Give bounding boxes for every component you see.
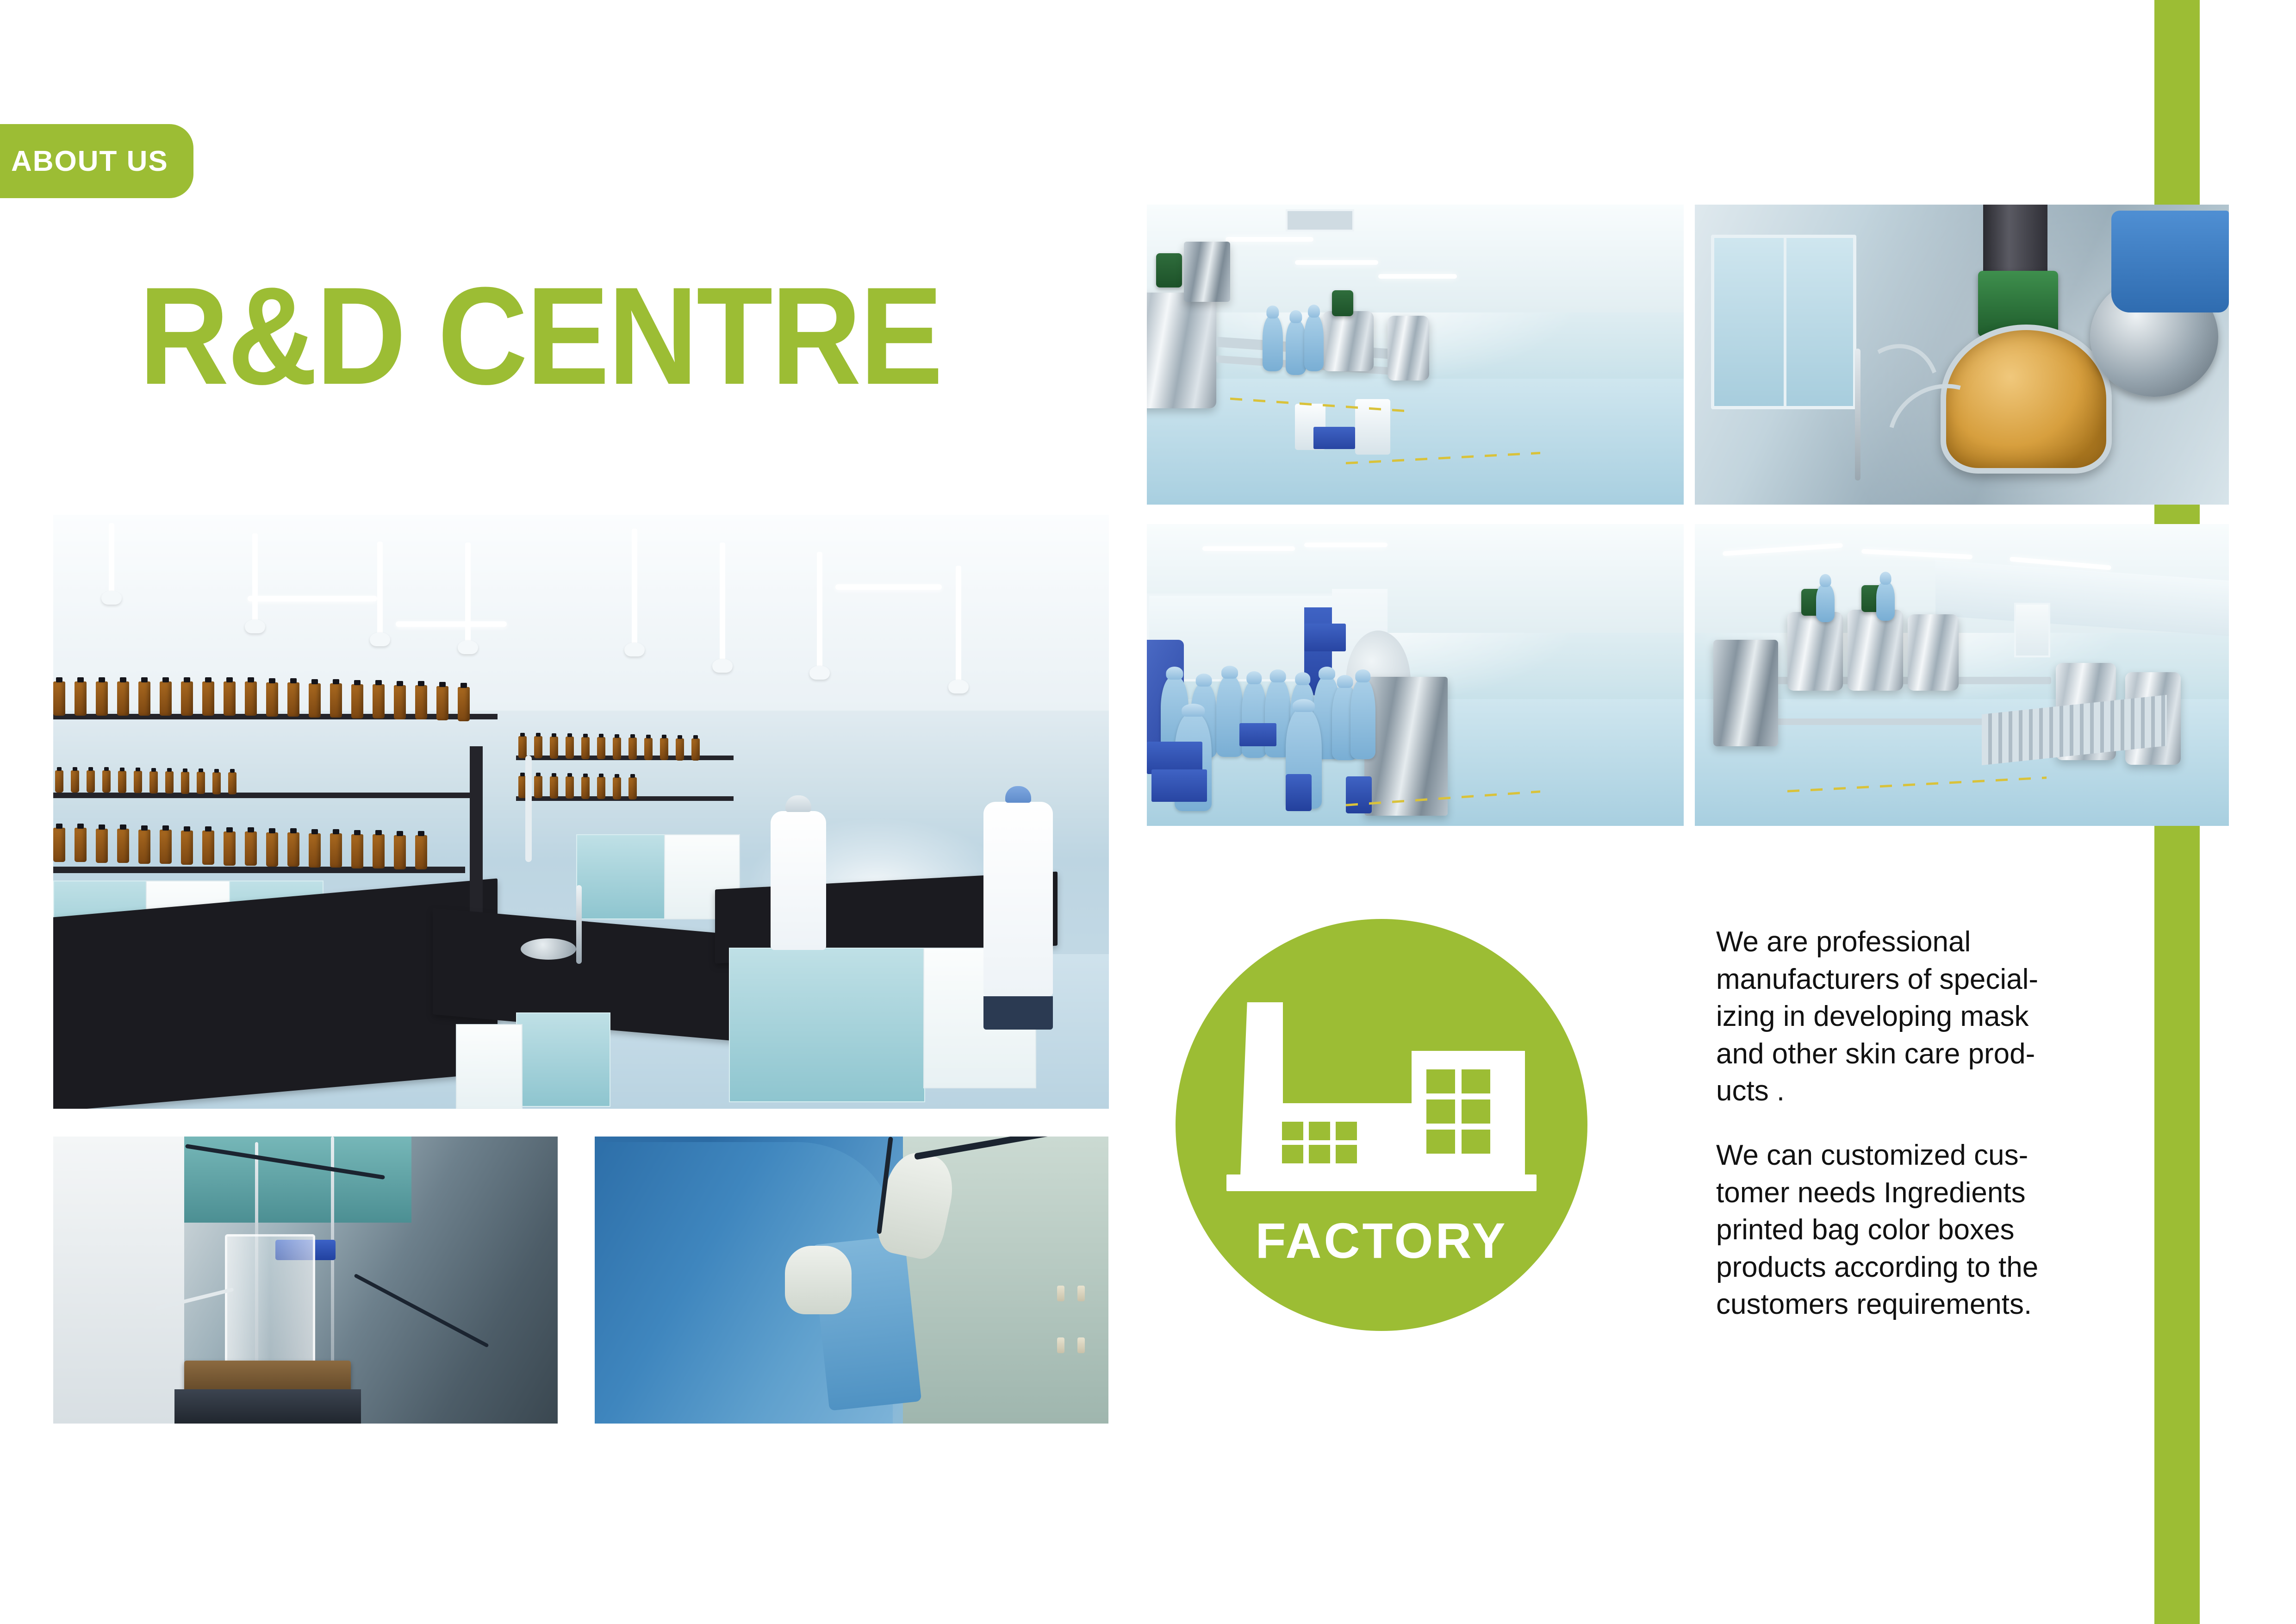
sample-vial <box>1077 1337 1085 1353</box>
reagent-bottle <box>628 737 637 760</box>
reagent-bottle <box>71 770 79 793</box>
factory-window <box>1462 1099 1490 1124</box>
emulsifying-tank <box>1787 612 1843 691</box>
work-stool <box>1286 774 1312 811</box>
cleanroom-scene <box>1147 205 1684 505</box>
wall-panel <box>2014 603 2050 657</box>
cleanroom-worker <box>1876 582 1895 621</box>
reagent-bottle <box>245 831 257 866</box>
factory-window <box>1426 1130 1455 1154</box>
tank-motor <box>1156 253 1182 287</box>
lab-shelf <box>516 796 734 801</box>
reagent-bottle <box>550 737 558 759</box>
reagent-bottle <box>330 683 342 718</box>
lab-sink <box>521 938 576 960</box>
lab-lamp <box>720 543 725 661</box>
mixing-tank <box>1147 293 1216 408</box>
reagent-bottle <box>597 777 605 799</box>
photo-beaker-hotplate <box>53 1137 558 1424</box>
cleanroom-worker <box>1304 315 1324 371</box>
ceiling-light <box>1226 237 1313 242</box>
about-us-tab-label: ABOUT US <box>11 145 168 178</box>
reagent-bottle <box>691 738 700 761</box>
reagent-bottle <box>160 681 172 716</box>
lab-lamp <box>632 529 637 644</box>
factory-window <box>1426 1069 1455 1093</box>
cleanroom-worker <box>1263 316 1283 371</box>
cleanroom-floor <box>1147 379 1684 505</box>
reagent-bottle <box>550 776 558 799</box>
glass-beaker <box>225 1234 315 1371</box>
cleanroom-worker <box>1286 320 1306 375</box>
technician-glove <box>785 1246 852 1315</box>
emulsifying-tank <box>1848 610 1903 691</box>
reagent-bottle <box>202 831 214 865</box>
reagent-bottle <box>181 681 193 716</box>
reagent-bottle <box>87 770 95 793</box>
reagent-bottle <box>287 832 299 867</box>
photo-filling-production-line <box>1147 205 1684 505</box>
factory-ground-bar <box>1226 1174 1537 1191</box>
factory-window <box>1426 1099 1455 1124</box>
mixing-tank <box>1388 316 1429 381</box>
reagent-bottle <box>117 829 129 863</box>
factory-window <box>1309 1122 1330 1140</box>
lab-technician <box>771 811 826 950</box>
photo-mixing-vessel <box>1695 205 2229 505</box>
reagent-bottle <box>160 830 172 864</box>
mixing-tank <box>1323 311 1374 371</box>
lab-technician-legs <box>983 996 1053 1030</box>
reagent-bottle <box>181 772 189 794</box>
ceiling-light <box>1304 543 1388 547</box>
packing-scene <box>1147 524 1684 826</box>
reagent-bottle <box>117 681 129 716</box>
beaker-backdrop <box>53 1137 184 1424</box>
cleanroom-worker <box>1350 680 1375 759</box>
factory-window <box>1282 1122 1303 1140</box>
lab-shelf <box>53 793 474 798</box>
reagent-bottle <box>351 684 363 718</box>
page-title: R&D CENTRE <box>139 266 941 405</box>
reagent-bottle <box>118 771 126 793</box>
lab-bench-post <box>470 746 483 913</box>
work-stool <box>1346 776 1372 813</box>
reagent-bottle <box>394 835 406 869</box>
factory-window <box>1462 1130 1490 1154</box>
brochure-page: ABOUT US R&D CENTRE <box>0 0 2296 1624</box>
about-us-tab[interactable]: ABOUT US <box>0 124 193 198</box>
lab-technician-cap <box>785 795 811 812</box>
reagent-bottle <box>245 681 257 716</box>
control-box <box>1184 242 1230 302</box>
reagent-bottle <box>373 684 385 718</box>
factory-icon <box>1226 1002 1537 1201</box>
operator-arm <box>2111 211 2229 312</box>
lab-technician <box>983 802 1053 996</box>
storage-tank <box>1713 640 1778 746</box>
reagent-bottle <box>202 681 214 716</box>
reagent-bottle <box>55 770 63 793</box>
about-paragraph-1: We are professional manufacturers of spe… <box>1716 924 2128 1110</box>
factory-window <box>1282 1145 1303 1163</box>
ceiling-light <box>1202 546 1295 551</box>
reagent-bottle <box>134 771 142 793</box>
lab-cabinet <box>729 948 925 1102</box>
reagent-bottle <box>534 776 542 798</box>
reagent-bottle <box>75 681 87 716</box>
reagent-bottle <box>75 828 87 862</box>
factory-badge-label: FACTORY <box>1176 1212 1587 1269</box>
photo-laboratory-main <box>53 515 1109 1109</box>
reagent-bottle <box>53 828 65 862</box>
factory-window <box>1336 1122 1357 1140</box>
reagent-bottle <box>96 829 108 863</box>
lab-lamp <box>956 566 961 681</box>
reagent-bottle <box>566 737 574 759</box>
lab-scene <box>53 515 1109 1109</box>
tank-motor <box>1332 290 1353 316</box>
lab-light-tube <box>396 621 507 627</box>
reagent-bottle <box>660 738 668 760</box>
reagent-bottle <box>613 737 621 760</box>
reagent-bottle <box>581 777 590 799</box>
blue-crate <box>1304 624 1346 651</box>
reagent-bottle <box>613 777 621 800</box>
lab-cabinet <box>576 834 666 919</box>
reagent-bottle <box>228 772 236 794</box>
factory-window <box>1336 1145 1357 1163</box>
reagent-bottle <box>287 682 299 717</box>
reagent-bottle <box>181 831 193 865</box>
reagent-bottle <box>266 682 278 717</box>
reagent-bottle <box>518 736 527 758</box>
ceiling-light <box>1295 260 1378 265</box>
reagent-bottle <box>266 832 278 867</box>
lab-gooseneck <box>525 756 532 862</box>
reagent-bottle <box>597 737 605 759</box>
reagent-bottle <box>165 771 174 793</box>
reagent-bottle <box>373 834 385 868</box>
technician-scene <box>595 1137 1108 1424</box>
sample-vial <box>1057 1337 1064 1353</box>
reagent-bottle <box>224 831 236 866</box>
lab-technician-cap <box>1005 786 1031 803</box>
photo-emulsifying-tanks <box>1695 524 2229 826</box>
lab-shelf <box>516 756 734 760</box>
reagent-bottle <box>534 736 542 758</box>
reagent-bottle <box>330 833 342 868</box>
support-pipe <box>1855 349 1860 481</box>
reagent-bottle <box>197 772 205 794</box>
reagent-bottle <box>212 772 221 794</box>
lab-lamp <box>377 542 383 634</box>
reagent-bottle <box>676 738 684 761</box>
sample-vial <box>1077 1286 1085 1301</box>
lab-cabinet <box>456 1024 523 1109</box>
reagent-bottle <box>96 681 108 716</box>
reagent-bottle <box>644 738 653 760</box>
cable <box>354 1274 489 1348</box>
blue-crate <box>1239 723 1276 746</box>
reagent-bottle <box>53 681 65 716</box>
lab-lamp <box>465 543 471 642</box>
lab-cabinet <box>516 1012 610 1107</box>
reagent-bottle <box>566 776 574 799</box>
reagent-bottle <box>138 830 150 864</box>
reagent-bottle <box>581 737 590 759</box>
sample-vial <box>1057 1286 1064 1301</box>
reagent-bottle <box>138 681 150 716</box>
ceiling-light <box>1378 274 1457 279</box>
about-copy-block: We are professional manufacturers of spe… <box>1716 924 2128 1324</box>
reagent-bottle <box>309 683 321 718</box>
reagent-bottle <box>149 771 158 793</box>
factory-window <box>1309 1145 1330 1163</box>
lab-lamp <box>817 552 822 668</box>
lab-faucet <box>576 885 582 964</box>
about-paragraph-2: We can customized cus- tomer needs Ingre… <box>1716 1137 2128 1324</box>
lab-light-tube <box>835 584 942 590</box>
cleanroom-door <box>1711 235 1856 409</box>
reagent-bottle <box>415 685 427 719</box>
hvac-vent <box>1286 209 1354 231</box>
reagent-bottle <box>394 685 406 719</box>
reagent-bottle <box>224 681 236 716</box>
emulsifying-tank <box>1908 614 1959 691</box>
reagent-bottle <box>628 777 637 800</box>
reagent-bottle <box>436 686 448 720</box>
cleanroom-worker <box>1816 584 1835 622</box>
reagent-bottle <box>458 687 470 721</box>
reagent-bottle <box>415 835 427 869</box>
tank-room-scene <box>1695 524 2229 826</box>
lab-light-tube <box>248 596 377 601</box>
hotplate-base <box>174 1389 361 1424</box>
lab-bench-top <box>53 878 498 1109</box>
mixer-scene <box>1695 205 2229 505</box>
photo-technician-sampling <box>595 1137 1108 1424</box>
reagent-bottle <box>351 834 363 868</box>
cleanroom-worker <box>1242 681 1267 758</box>
blue-crate <box>1313 427 1355 449</box>
photo-packing-line-workers <box>1147 524 1684 826</box>
reagent-bottle <box>102 770 111 793</box>
factory-window <box>1462 1069 1490 1093</box>
blue-crate <box>1151 769 1207 802</box>
factory-badge: FACTORY <box>1176 919 1587 1331</box>
packing-machine <box>1364 677 1448 816</box>
lab-lamp <box>252 533 258 621</box>
lab-lamp <box>109 523 114 593</box>
beaker-scene <box>53 1137 558 1424</box>
reagent-bottle <box>309 833 321 868</box>
